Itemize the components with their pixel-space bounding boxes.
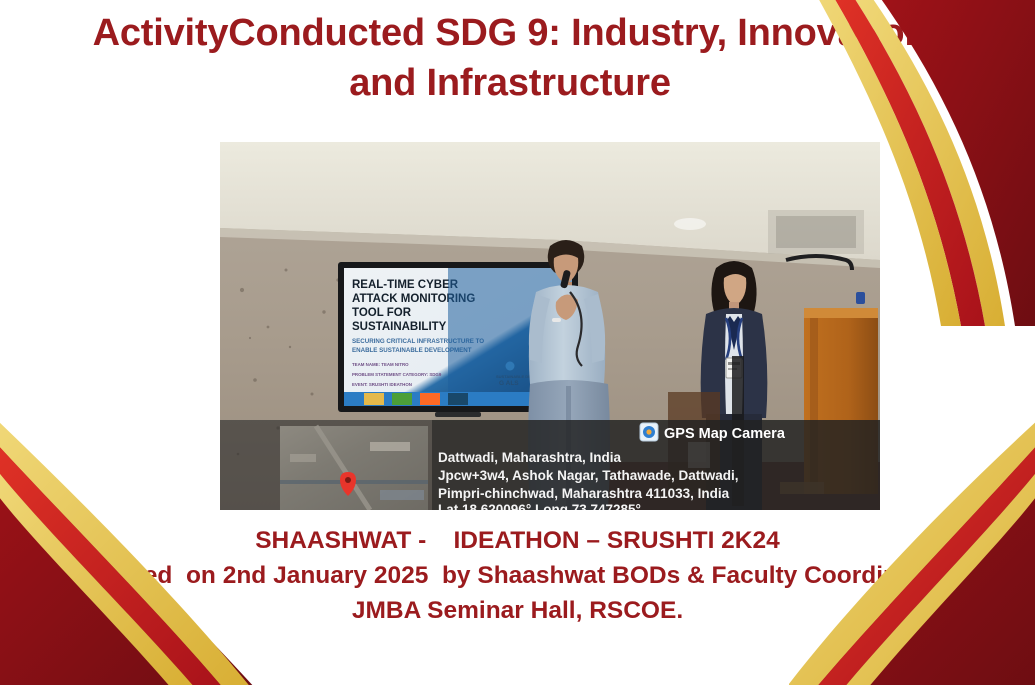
caption-line-2: conducted on 2nd January 2025 by Shaashw… [20, 559, 1015, 594]
wall-sign [856, 292, 865, 304]
gps-app-name: GPS Map Camera [664, 426, 786, 442]
svg-text:PROBLEM STATEMENT CATEGORY: S: PROBLEM STATEMENT CATEGORY: SDG9 [352, 372, 442, 377]
svg-text:TEAM NAME: TEAM NITRO: TEAM NAME: TEAM NITRO [352, 362, 409, 367]
photograph-canvas: REAL-TIME CYBER ATTACK MONITORING TOOL F… [220, 142, 880, 510]
svg-text:EVENT: SRUSHTI IDEATHON: EVENT: SRUSHTI IDEATHON [352, 382, 412, 387]
svg-text:TOOL FOR: TOOL FOR [352, 307, 412, 319]
caption-line-1: SHAASHWAT - IDEATHON – SRUSHTI 2K24 [20, 524, 1015, 559]
caption-line-3: JMBA Seminar Hall, RSCOE. [20, 594, 1015, 629]
gps-map-camera-overlay: GPS Map Camera Dattwadi, Maharashtra, In… [220, 420, 880, 510]
svg-text:SUSTAINABILITY: SUSTAINABILITY [352, 321, 447, 333]
ceiling-light [674, 218, 706, 230]
event-photograph: REAL-TIME CYBER ATTACK MONITORING TOOL F… [220, 142, 880, 510]
caption-block: SHAASHWAT - IDEATHON – SRUSHTI 2K24 cond… [20, 524, 1015, 628]
svg-text:Dattwadi, Maharashtra, India: Dattwadi, Maharashtra, India [438, 450, 622, 465]
page-title: ActivityConducted SDG 9: Industry, Innov… [60, 8, 960, 108]
svg-text:Jpcw+3w4, Ashok Nagar, Tathawa: Jpcw+3w4, Ashok Nagar, Tathawade, Dattwa… [438, 468, 738, 483]
ceiling-ac-vent [768, 210, 864, 254]
svg-text:Lat 18.620096° Long 73.747285°: Lat 18.620096° Long 73.747285° [438, 502, 641, 510]
svg-text:REAL-TIME CYBER: REAL-TIME CYBER [352, 279, 459, 291]
gps-app-icon [640, 423, 658, 441]
svg-text:Pimpri-chinchwad, Maharashtra: Pimpri-chinchwad, Maharashtra 411033, In… [438, 486, 730, 501]
presentation-slide: ActivityConducted SDG 9: Industry, Innov… [0, 0, 1035, 685]
title-block: ActivityConducted SDG 9: Industry, Innov… [60, 8, 960, 108]
